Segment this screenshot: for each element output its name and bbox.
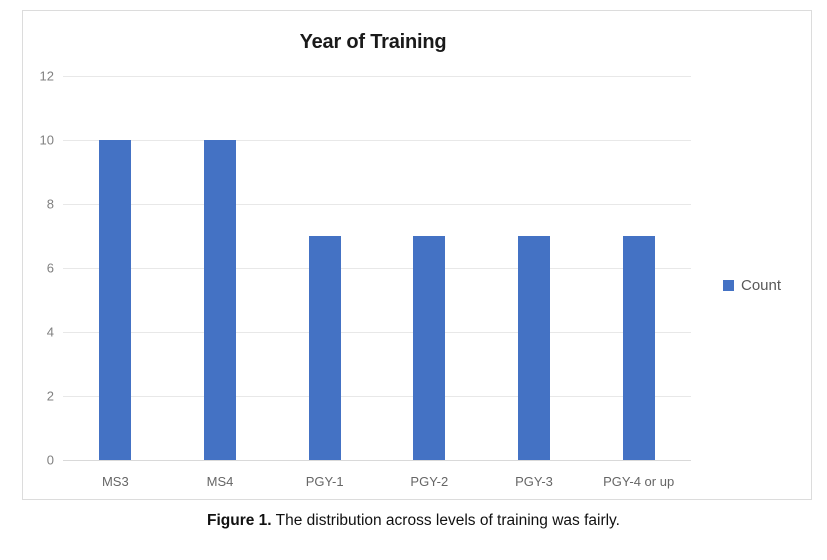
x-axis-labels-group: MS3MS4PGY-1PGY-2PGY-3PGY-4 or up bbox=[63, 466, 691, 496]
figure-caption-text: The distribution across levels of traini… bbox=[276, 512, 620, 529]
bar-pgy-3[interactable] bbox=[518, 236, 550, 460]
x-axis-tick-label: PGY-3 bbox=[515, 474, 553, 489]
y-axis-tick-label: 12 bbox=[40, 69, 54, 84]
bar-ms4[interactable] bbox=[204, 140, 236, 460]
plot-area: 024681012 bbox=[63, 76, 691, 460]
figure-caption: Figure 1. The distribution across levels… bbox=[0, 512, 827, 530]
bar-slot bbox=[482, 76, 587, 460]
chart-frame: Year of Training 024681012 MS3MS4PGY-1PG… bbox=[22, 10, 812, 500]
y-axis-tick-label: 0 bbox=[47, 453, 54, 468]
y-axis-tick-label: 4 bbox=[47, 325, 54, 340]
bar-pgy-4-or-up[interactable] bbox=[623, 236, 655, 460]
y-axis-tick-label: 10 bbox=[40, 133, 54, 148]
bar-slot bbox=[272, 76, 377, 460]
x-axis-tick-label: PGY-4 or up bbox=[603, 474, 674, 489]
x-axis-tick-label: MS3 bbox=[102, 474, 129, 489]
chart-legend: Count bbox=[723, 277, 781, 294]
bar-slot bbox=[63, 76, 168, 460]
x-axis-tick-label: PGY-1 bbox=[306, 474, 344, 489]
legend-swatch-count-icon bbox=[723, 280, 734, 291]
legend-label-count: Count bbox=[741, 277, 781, 294]
y-axis-tick-label: 2 bbox=[47, 389, 54, 404]
figure-caption-label: Figure 1. bbox=[207, 512, 272, 529]
bar-pgy-1[interactable] bbox=[309, 236, 341, 460]
bar-slot bbox=[586, 76, 691, 460]
bars-group bbox=[63, 76, 691, 460]
figure-container: Year of Training 024681012 MS3MS4PGY-1PG… bbox=[0, 0, 827, 560]
bar-slot bbox=[377, 76, 482, 460]
x-axis-tick-label: MS4 bbox=[207, 474, 234, 489]
bar-slot bbox=[168, 76, 273, 460]
bar-pgy-2[interactable] bbox=[413, 236, 445, 460]
bar-ms3[interactable] bbox=[99, 140, 131, 460]
chart-title: Year of Training bbox=[23, 31, 723, 54]
gridline-0: 0 bbox=[63, 460, 691, 461]
x-axis-tick-label: PGY-2 bbox=[410, 474, 448, 489]
y-axis-tick-label: 8 bbox=[47, 197, 54, 212]
y-axis-tick-label: 6 bbox=[47, 261, 54, 276]
